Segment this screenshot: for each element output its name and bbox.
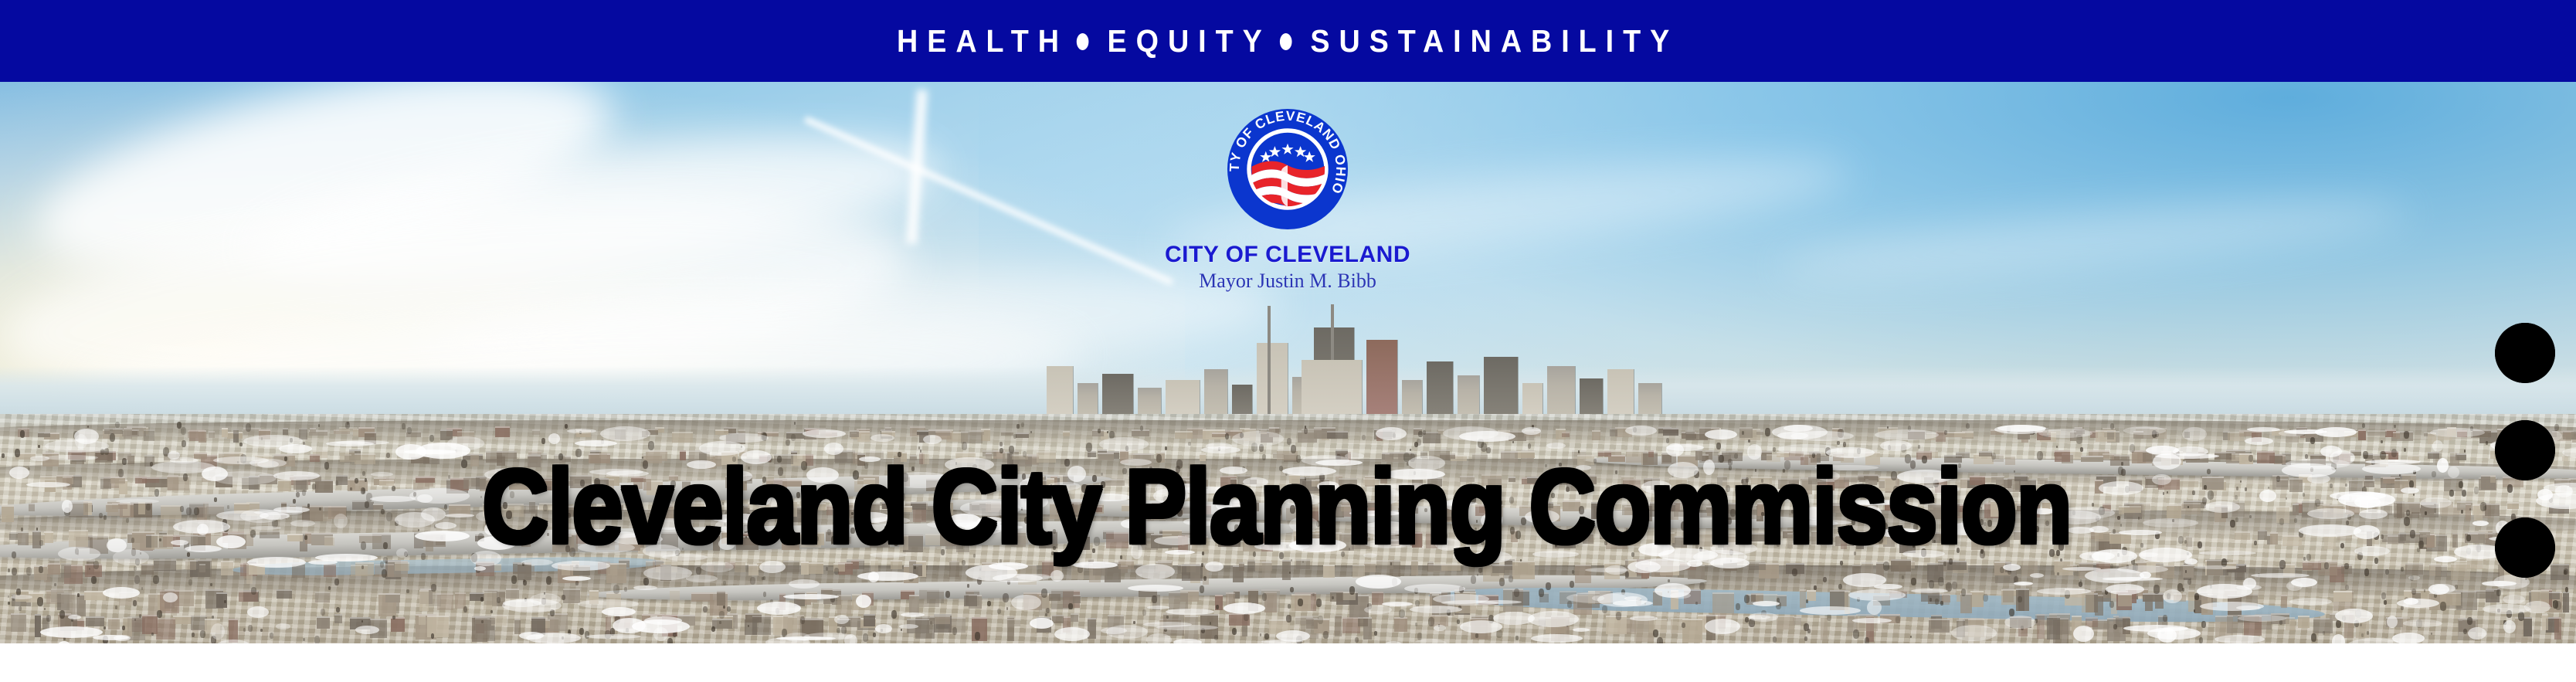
tree-speck: [506, 529, 510, 535]
snow-patch: [2243, 578, 2256, 589]
snow-patch: [648, 518, 690, 530]
tree-speck: [1053, 529, 1056, 534]
tree-speck: [180, 506, 184, 512]
snow-patch: [1073, 562, 1118, 568]
snow-patch: [783, 594, 839, 599]
tree-speck: [307, 504, 310, 507]
tree-speck: [667, 638, 673, 643]
tree-speck: [2310, 437, 2315, 444]
facebook-icon[interactable]: [2495, 517, 2555, 578]
snow-patch: [719, 433, 769, 443]
tree-speck: [1695, 602, 1698, 605]
tree-speck: [480, 496, 482, 498]
snow-patch: [765, 637, 810, 643]
snow-patch: [1376, 427, 1407, 440]
tree-speck: [104, 626, 106, 629]
tree-speck: [827, 529, 831, 535]
building: [2281, 595, 2287, 608]
tree-speck: [1727, 517, 1732, 524]
tree-speck: [319, 507, 321, 511]
tree-speck: [1159, 507, 1162, 511]
tree-speck: [365, 501, 369, 508]
tree-speck: [2045, 521, 2049, 526]
tree-speck: [1514, 589, 1519, 597]
tree-speck: [1755, 469, 1756, 472]
building: [2383, 477, 2395, 484]
snow-patch: [1088, 494, 1131, 501]
tree-speck: [1499, 500, 1502, 505]
tree-speck: [2140, 543, 2143, 548]
snow-patch: [1546, 443, 1566, 449]
tree-speck: [448, 475, 450, 479]
tree-speck: [1003, 593, 1009, 602]
building: [585, 531, 592, 538]
building: [1412, 532, 1422, 548]
snow-patch: [1020, 478, 1041, 493]
snow-patch: [870, 552, 907, 558]
snow-patch: [1877, 528, 1924, 538]
building: [529, 500, 535, 512]
tree-speck: [2276, 476, 2280, 482]
tree-speck: [2360, 623, 2362, 626]
building: [2186, 536, 2192, 547]
snow-patch: [2014, 582, 2033, 585]
tree-speck: [2345, 484, 2347, 487]
tree-speck: [1777, 494, 1784, 503]
snow-patch: [2430, 428, 2485, 437]
tree-speck: [2323, 631, 2325, 635]
tree-speck: [1156, 454, 1162, 463]
tree-speck: [1883, 562, 1889, 571]
building: [1575, 565, 1591, 583]
building: [2257, 451, 2275, 463]
tree-speck: [1270, 534, 1274, 540]
tree-speck: [535, 514, 538, 517]
snow-patch: [1852, 618, 1892, 623]
tree-speck: [1471, 575, 1476, 584]
tree-speck: [1290, 505, 1295, 514]
snow-patch: [2238, 615, 2286, 622]
snow-patch: [899, 624, 918, 629]
snow-patch: [216, 535, 246, 548]
tree-speck: [1051, 551, 1054, 555]
snow-patch: [875, 624, 892, 633]
snow-patch: [470, 551, 501, 566]
tree-speck: [2385, 569, 2389, 575]
tree-speck: [1944, 430, 1947, 435]
tree-speck: [1843, 442, 1846, 447]
tree-speck: [2404, 431, 2409, 439]
building: [1598, 451, 1611, 456]
tree-speck: [884, 526, 888, 531]
tree-speck: [1323, 631, 1329, 639]
tree-speck: [141, 587, 143, 590]
tree-speck: [812, 541, 813, 544]
snow-patch: [2182, 427, 2207, 441]
tree-speck: [1041, 540, 1045, 545]
tree-speck: [2187, 506, 2189, 508]
snow-patch: [2099, 481, 2143, 495]
building: [340, 451, 355, 462]
tree-speck: [1719, 455, 1724, 463]
building: [2258, 530, 2267, 540]
building: [2298, 616, 2310, 628]
snow-patch: [1630, 616, 1658, 621]
tree-speck: [1726, 485, 1730, 492]
tree-speck: [2384, 600, 2387, 605]
city-logo-block[interactable]: CITY OF CLEVELAND OHIO: [1110, 105, 1465, 292]
building: [1512, 561, 1535, 579]
tree-speck: [146, 504, 151, 511]
tree-speck: [26, 567, 32, 575]
snow-patch: [1243, 477, 1268, 487]
tree-speck: [1478, 568, 1482, 573]
snow-patch: [2245, 437, 2273, 445]
tree-speck: [1312, 593, 1315, 596]
tree-speck: [1045, 613, 1047, 616]
snow-patch: [1875, 429, 1939, 440]
snow-patch: [526, 633, 581, 643]
tree-speck: [2240, 480, 2242, 483]
building: [283, 428, 288, 435]
tree-speck: [1023, 451, 1027, 457]
snow-patch: [2053, 511, 2101, 524]
tree-speck: [8, 568, 10, 572]
tree-speck: [1165, 446, 1167, 450]
tree-speck: [546, 576, 552, 585]
building: [2130, 503, 2150, 510]
snow-patch: [173, 520, 230, 534]
building: [141, 564, 154, 575]
building: [2367, 430, 2387, 436]
building: [1088, 506, 1102, 512]
building: [748, 565, 759, 575]
building: [287, 534, 303, 541]
tree-speck: [786, 439, 790, 446]
building: [2118, 594, 2132, 606]
tree-speck: [2202, 497, 2207, 504]
snow-patch: [834, 615, 849, 624]
tree-speck: [15, 449, 20, 457]
tree-speck: [851, 512, 854, 515]
tree-speck: [2163, 615, 2167, 622]
snow-patch: [1030, 618, 1054, 629]
building: [1131, 531, 1142, 538]
tree-speck: [2431, 633, 2432, 635]
tree-speck: [863, 633, 868, 642]
building: [1767, 454, 1780, 462]
snow-patch: [2106, 584, 2144, 595]
building: [1050, 503, 1072, 519]
tree-speck: [1086, 443, 1092, 452]
tree-speck: [2254, 541, 2257, 545]
snow-patch: [868, 572, 879, 582]
building: [18, 531, 29, 545]
building: [1943, 593, 1950, 605]
building: [940, 531, 959, 546]
building: [735, 561, 745, 572]
tree-speck: [1929, 580, 1934, 589]
building: [1118, 560, 1134, 569]
tree-speck: [115, 422, 120, 428]
snow-patch: [113, 549, 149, 565]
building: [1501, 451, 1518, 463]
building: [2116, 616, 2130, 627]
tree-speck: [1666, 438, 1669, 443]
tree-speck: [8, 595, 9, 598]
snow-patch: [1434, 625, 1446, 631]
snow-patch: [2030, 573, 2044, 578]
building: [969, 430, 984, 435]
tree-speck: [1572, 570, 1574, 574]
snow-patch: [718, 538, 735, 550]
tree-speck: [1910, 636, 1912, 638]
snow-patch: [9, 467, 29, 479]
tree-speck: [1410, 449, 1411, 451]
snow-patch: [212, 471, 277, 485]
building: [1411, 560, 1418, 575]
tree-speck: [1286, 615, 1291, 623]
tree-speck: [250, 530, 256, 538]
snow-patch: [643, 545, 680, 558]
youtube-icon[interactable]: [2495, 323, 2555, 383]
snow-patch: [1154, 536, 1196, 545]
building: [199, 430, 206, 443]
tree-speck: [1414, 442, 1418, 447]
tree-speck: [1566, 487, 1570, 492]
tree-speck: [406, 589, 409, 593]
tree-speck: [1865, 637, 1869, 643]
tree-speck: [355, 478, 358, 484]
building: [690, 502, 704, 511]
building: [964, 594, 977, 606]
snow-patch: [2204, 501, 2240, 513]
tree-speck: [1784, 460, 1790, 470]
building: [2476, 590, 2494, 599]
tree-speck: [815, 536, 819, 541]
tree-speck: [2394, 425, 2396, 428]
building: [124, 428, 132, 439]
tree-speck: [975, 632, 980, 640]
tree-speck: [711, 626, 715, 632]
snow-patch: [1528, 611, 1579, 627]
tree-speck: [2345, 585, 2349, 590]
tree-speck: [1374, 631, 1377, 636]
tree-speck: [592, 507, 593, 511]
snow-patch: [2387, 616, 2398, 628]
snow-patch: [1190, 504, 1227, 514]
tree-speck: [1264, 633, 1269, 640]
building: [1052, 615, 1064, 623]
tree-speck: [1777, 543, 1780, 547]
tree-speck: [1071, 549, 1075, 556]
tree-speck: [1893, 486, 1899, 494]
tree-speck: [748, 467, 750, 470]
tree-speck: [2381, 440, 2383, 443]
building: [486, 479, 497, 490]
building: [752, 616, 771, 635]
building: [1970, 476, 1985, 485]
snow-patch: [290, 520, 315, 527]
tree-speck: [91, 576, 97, 584]
snow-patch: [1627, 561, 1661, 573]
snow-patch: [1356, 575, 1401, 589]
tree-speck: [1887, 426, 1889, 429]
tree-speck: [1133, 621, 1135, 624]
tree-speck: [12, 568, 17, 575]
tree-speck: [444, 504, 447, 510]
building: [9, 532, 18, 540]
building: [1749, 562, 1766, 570]
tree-speck: [328, 586, 331, 590]
tree-speck: [1984, 522, 1987, 526]
building: [2397, 502, 2402, 518]
instagram-icon[interactable]: [2495, 420, 2555, 480]
tree-speck: [1457, 619, 1460, 624]
tree-speck: [431, 584, 436, 592]
tree-speck: [1668, 579, 1670, 582]
tree-speck: [380, 562, 384, 568]
tree-speck: [1202, 551, 1204, 555]
snow-patch: [2117, 565, 2168, 573]
tree-speck: [1362, 435, 1366, 440]
building: [1674, 501, 1690, 517]
tree-speck: [1332, 596, 1334, 599]
tree-speck: [723, 581, 726, 585]
tree-speck: [1486, 447, 1491, 453]
tree-speck: [1424, 508, 1427, 512]
tree-speck: [2564, 570, 2567, 575]
snow-patch: [1705, 429, 1737, 439]
tree-speck: [1806, 599, 1808, 603]
snow-patch: [1011, 595, 1041, 610]
building: [2467, 559, 2483, 569]
snow-patch: [1471, 551, 1512, 563]
building: [1928, 504, 1942, 519]
tree-speck: [557, 467, 561, 473]
snow-patch: [2472, 521, 2489, 526]
building: [385, 593, 400, 602]
tree-speck: [580, 480, 585, 487]
tree-speck: [407, 427, 412, 434]
building: [1327, 431, 1348, 439]
snow-patch: [1349, 511, 1401, 516]
tree-speck: [293, 499, 296, 504]
tree-speck: [1746, 477, 1749, 483]
tree-speck: [192, 633, 195, 637]
building: [494, 564, 501, 571]
snow-patch: [370, 496, 416, 502]
tree-speck: [1291, 559, 1292, 562]
tree-speck: [558, 453, 563, 460]
building: [1591, 502, 1607, 519]
snow-patch: [58, 547, 100, 561]
building: [923, 453, 929, 464]
snow-patch: [26, 482, 70, 487]
tree-speck: [1515, 531, 1521, 539]
snow-patch: [1625, 426, 1657, 436]
tree-speck: [89, 568, 90, 570]
tree-speck: [8, 602, 10, 605]
building: [2228, 432, 2244, 441]
snow-patch: [2289, 598, 2332, 606]
tree-speck: [1107, 431, 1108, 433]
tree-speck: [2249, 515, 2252, 518]
tree-speck: [2381, 534, 2384, 539]
building: [2402, 502, 2420, 512]
tree-speck: [2080, 447, 2083, 452]
tree-speck: [2130, 444, 2135, 453]
building: [2303, 562, 2321, 570]
snow-patch: [2215, 635, 2265, 643]
building: [110, 477, 125, 484]
snow-patch: [1460, 620, 1502, 633]
building: [1468, 535, 1473, 543]
snow-patch: [11, 595, 32, 599]
snow-patch: [530, 593, 561, 606]
tree-speck: [1013, 434, 1016, 439]
snow-patch: [2199, 551, 2256, 555]
building: [2293, 504, 2299, 515]
tree-speck: [421, 553, 426, 560]
tree-speck: [318, 424, 320, 427]
tree-speck: [19, 606, 22, 611]
tree-speck: [1265, 491, 1271, 500]
tree-speck: [39, 566, 43, 573]
tree-speck: [1296, 455, 1301, 463]
tree-speck: [1539, 589, 1544, 597]
building: [1175, 431, 1193, 439]
tree-speck: [1064, 459, 1070, 467]
snow-patch: [2359, 509, 2388, 519]
tree-speck: [1510, 527, 1515, 534]
building: [2393, 432, 2400, 439]
snow-patch: [185, 545, 222, 552]
tree-speck: [2425, 511, 2427, 515]
building: [151, 534, 173, 549]
snow-patch: [1902, 550, 1945, 558]
tree-speck: [2361, 633, 2364, 637]
building: [144, 429, 154, 441]
tree-speck: [1900, 507, 1902, 511]
building: [1748, 533, 1768, 541]
snow-patch: [548, 433, 560, 444]
tree-speck: [2037, 451, 2043, 460]
building: [199, 564, 205, 572]
snow-patch: [114, 635, 131, 641]
tree-speck: [361, 541, 366, 550]
tree-speck: [46, 615, 51, 622]
building: [142, 477, 159, 483]
snow-patch: [2420, 497, 2452, 508]
snow-patch: [575, 440, 617, 446]
building: [2333, 591, 2352, 602]
snow-patch: [2354, 525, 2380, 539]
tree-speck: [1827, 614, 1831, 621]
tree-speck: [1839, 533, 1843, 538]
tree-speck: [613, 585, 619, 594]
tree-speck: [2306, 554, 2311, 561]
tree-speck: [2235, 517, 2238, 522]
building: [854, 480, 864, 492]
tree-speck: [87, 426, 89, 428]
building: [826, 505, 833, 515]
snow-patch: [1532, 551, 1579, 558]
snow-patch: [1573, 628, 1590, 632]
building: [1074, 504, 1080, 515]
building: [260, 531, 280, 538]
snow-patch: [1748, 615, 1770, 619]
